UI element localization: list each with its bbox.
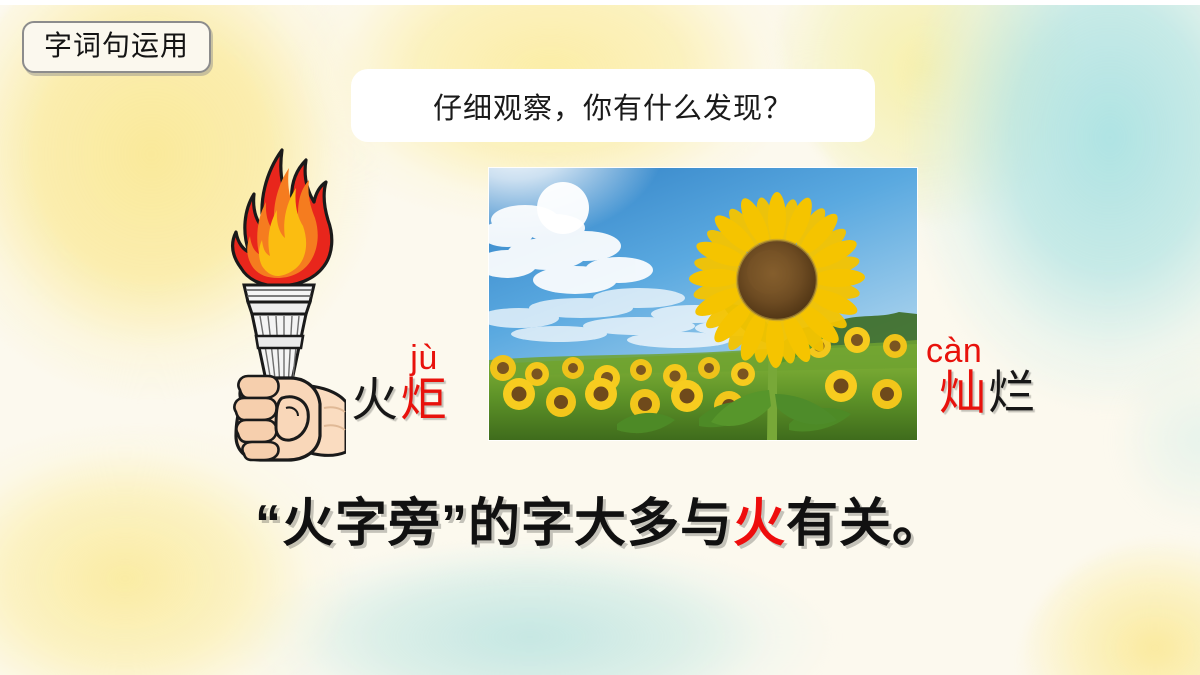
pinyin-can: càn xyxy=(918,334,1058,370)
torch-illustration xyxy=(186,140,346,462)
section-title-badge: 字词句运用 xyxy=(22,21,211,73)
word-canlan: 灿烂 xyxy=(918,370,1058,419)
sunflower-photo xyxy=(489,168,917,440)
hanzi-can: 灿 xyxy=(939,368,988,420)
slide-canvas: 字词句运用 仔细观察，你有什么发现？ xyxy=(0,0,1200,675)
section-title-label: 字词句运用 xyxy=(44,30,189,61)
conclusion-part2: 有关。 xyxy=(786,495,945,553)
question-banner-text: 仔细观察，你有什么发现？ xyxy=(433,85,793,127)
pinyin-ju: jù xyxy=(330,341,470,377)
conclusion-part1: “火字旁”的字大多与 xyxy=(255,495,733,553)
hanzi-ju: 炬 xyxy=(400,375,449,427)
conclusion-highlight-huo: 火 xyxy=(733,495,786,553)
top-white-strip xyxy=(0,0,1200,5)
conclusion-sentence: “火字旁”的字大多与火有关。 xyxy=(0,496,1200,553)
word-card-canlan: càn 灿烂 xyxy=(918,334,1058,419)
question-banner: 仔细观察，你有什么发现？ xyxy=(351,69,875,142)
word-huoju: 火炬 xyxy=(330,377,470,426)
hanzi-lan: 烂 xyxy=(988,368,1037,420)
hanzi-huo: 火 xyxy=(351,375,400,427)
word-card-huoju: jù 火炬 xyxy=(330,341,470,426)
